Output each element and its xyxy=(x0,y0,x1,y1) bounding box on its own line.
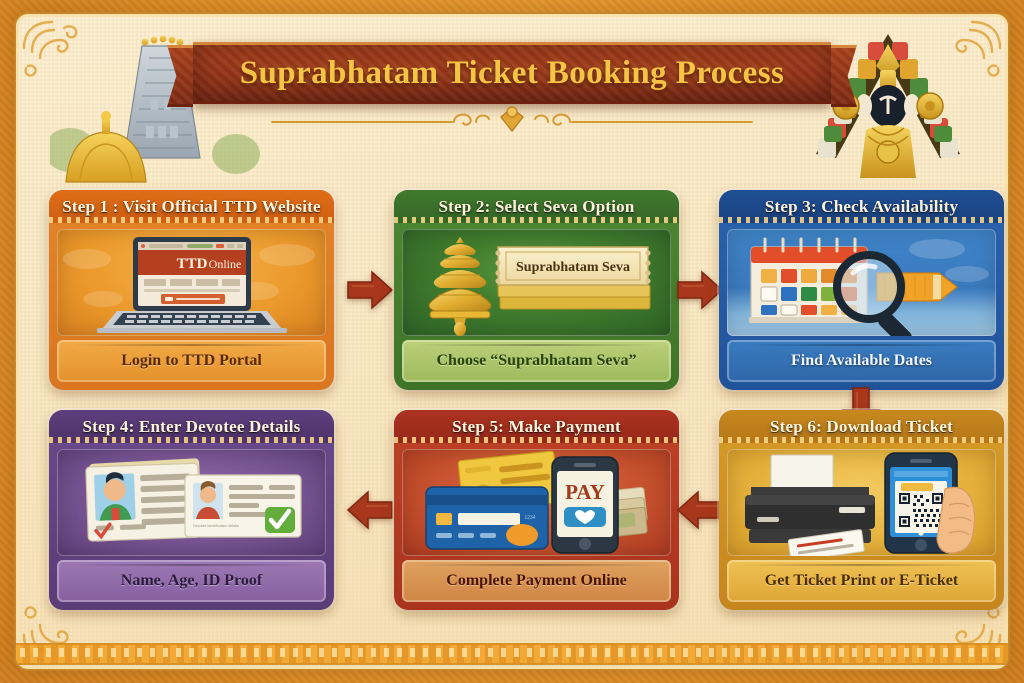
step-1-caption: Login to TTD Portal xyxy=(121,352,262,370)
title-banner-wrap: Suprabhatam Ticket Booking Process xyxy=(16,38,1008,108)
id-cards-icon: Devotee identification details xyxy=(57,449,326,556)
step-6-illustration xyxy=(727,449,996,556)
step-3-title: Step 3: Check Availability xyxy=(765,197,958,217)
step-5-caption-box: Complete Payment Online xyxy=(402,560,671,602)
step-3-caption-box: Find Available Dates xyxy=(727,340,996,382)
step-3-illustration xyxy=(727,229,996,336)
laptop-icon: TTD Online xyxy=(57,229,326,336)
poster-inner-frame: Suprabhatam Ticket Booking Process xyxy=(14,12,1010,671)
step-card-5[interactable]: Step 5: Make Payment xyxy=(394,410,679,610)
pay-label: PAY xyxy=(565,480,605,504)
step-6-caption: Get Ticket Print or E-Ticket xyxy=(765,572,958,590)
step-card-3[interactable]: Step 3: Check Availability xyxy=(719,190,1004,390)
step-3-caption: Find Available Dates xyxy=(791,352,932,370)
ticket-label: Suprabhatam Seva xyxy=(516,260,630,275)
arrow-step1-to-step2 xyxy=(346,268,394,312)
step-6-header: Step 6: Download Ticket xyxy=(719,410,1004,443)
step-card-2[interactable]: Step 2: Select Seva Option xyxy=(394,190,679,390)
printer-qr-icon xyxy=(727,449,996,556)
arrow-step5-to-step4 xyxy=(346,488,394,532)
svg-text:1234: 1234 xyxy=(524,515,535,521)
step-2-caption-box: Choose “Suprabhatam Seva” xyxy=(402,340,671,382)
payment-icon: 1234 PAY xyxy=(402,449,671,556)
step-4-illustration: Devotee identification details xyxy=(57,449,326,556)
step-1-caption-box: Login to TTD Portal xyxy=(57,340,326,382)
step-5-illustration: 1234 PAY xyxy=(402,449,671,556)
arrow-step6-to-step5 xyxy=(676,488,724,532)
step-2-illustration: Suprabhatam Seva xyxy=(402,229,671,336)
svg-text:Devotee identification details: Devotee identification details xyxy=(193,524,239,528)
step-4-caption-box: Name, Age, ID Proof xyxy=(57,560,326,602)
step-6-title: Step 6: Download Ticket xyxy=(770,417,953,437)
step-2-caption: Choose “Suprabhatam Seva” xyxy=(436,352,636,370)
step-1-illustration: TTD Online xyxy=(57,229,326,336)
step-2-title: Step 2: Select Seva Option xyxy=(439,197,635,217)
poster-background: Suprabhatam Ticket Booking Process xyxy=(0,0,1024,683)
svg-text:Online: Online xyxy=(209,257,242,271)
step-5-title: Step 5: Make Payment xyxy=(452,417,621,437)
ornamental-divider xyxy=(16,106,1008,132)
calendar-magnifier-icon xyxy=(727,229,996,336)
step-5-header: Step 5: Make Payment xyxy=(394,410,679,443)
arrow-step2-to-step3 xyxy=(676,268,724,312)
step-6-caption-box: Get Ticket Print or E-Ticket xyxy=(727,560,996,602)
step-2-header: Step 2: Select Seva Option xyxy=(394,190,679,223)
svg-text:TTD: TTD xyxy=(177,256,208,272)
footer-ornament-band xyxy=(16,643,1008,665)
step-1-header: Step 1 : Visit Official TTD Website xyxy=(49,190,334,223)
step-1-title: Step 1 : Visit Official TTD Website xyxy=(62,197,321,217)
step-4-caption: Name, Age, ID Proof xyxy=(121,572,262,590)
step-4-header: Step 4: Enter Devotee Details xyxy=(49,410,334,443)
bell-and-ticket-icon: Suprabhatam Seva xyxy=(402,229,671,336)
step-4-title: Step 4: Enter Devotee Details xyxy=(83,417,301,437)
title-banner: Suprabhatam Ticket Booking Process xyxy=(193,42,831,104)
step-card-6[interactable]: Step 6: Download Ticket xyxy=(719,410,1004,610)
page-title: Suprabhatam Ticket Booking Process xyxy=(240,55,784,92)
step-5-caption: Complete Payment Online xyxy=(446,572,626,590)
step-card-1[interactable]: Step 1 : Visit Official TTD Website xyxy=(49,190,334,390)
step-card-4[interactable]: Step 4: Enter Devotee Details xyxy=(49,410,334,610)
step-3-header: Step 3: Check Availability xyxy=(719,190,1004,223)
process-flow: Step 1 : Visit Official TTD Website xyxy=(16,190,1008,610)
